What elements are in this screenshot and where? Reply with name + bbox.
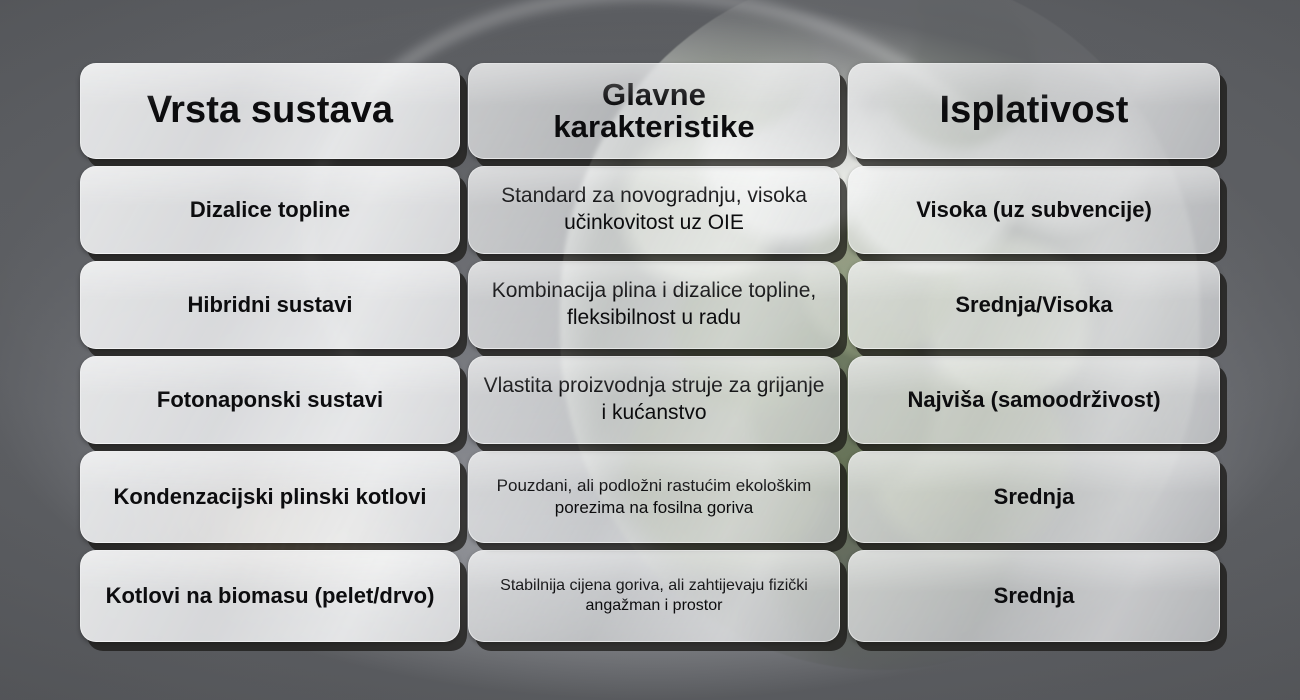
cell-system: Kondenzacijski plinski kotlovi bbox=[80, 451, 460, 543]
cell-system: Fotonaponski sustavi bbox=[80, 356, 460, 444]
table-row: Kotlovi na biomasu (pelet/drvo) Stabilni… bbox=[80, 550, 1220, 642]
table-header-row: Vrsta sustava Glavnekarakteristike Ispla… bbox=[80, 63, 1220, 159]
cell-text-characteristics: Vlastita proizvodnja struje za grijanje … bbox=[483, 373, 825, 427]
header-label-characteristics-line1: Glavne bbox=[602, 77, 706, 112]
cell-characteristics: Pouzdani, ali podložni rastućim ekološki… bbox=[468, 451, 840, 543]
slide-canvas: Vrsta sustava Glavnekarakteristike Ispla… bbox=[0, 0, 1300, 700]
cell-system: Kotlovi na biomasu (pelet/drvo) bbox=[80, 550, 460, 642]
cell-text-characteristics: Kombinacija plina i dizalice topline, fl… bbox=[483, 278, 825, 332]
cell-text-characteristics: Stabilnija cijena goriva, ali zahtijevaj… bbox=[483, 576, 825, 617]
header-label-system: Vrsta sustava bbox=[147, 91, 393, 131]
cell-system: Dizalice topline bbox=[80, 166, 460, 254]
cell-text-characteristics: Standard za novogradnju, visoka učinkovi… bbox=[483, 183, 825, 237]
header-label-profitability: Isplativost bbox=[939, 91, 1128, 131]
table-row: Hibridni sustavi Kombinacija plina i diz… bbox=[80, 261, 1220, 349]
comparison-table: Vrsta sustava Glavnekarakteristike Ispla… bbox=[80, 63, 1220, 642]
cell-profitability: Srednja/Visoka bbox=[848, 261, 1220, 349]
cell-text-system: Hibridni sustavi bbox=[187, 292, 352, 318]
cell-text-system: Fotonaponski sustavi bbox=[157, 387, 383, 413]
cell-characteristics: Stabilnija cijena goriva, ali zahtijevaj… bbox=[468, 550, 840, 642]
cell-profitability: Najviša (samoodrživost) bbox=[848, 356, 1220, 444]
header-label-characteristics: Glavnekarakteristike bbox=[553, 79, 754, 143]
cell-text-profitability: Srednja/Visoka bbox=[955, 292, 1112, 318]
header-label-characteristics-line2: karakteristike bbox=[553, 109, 754, 144]
cell-text-system: Dizalice topline bbox=[190, 197, 350, 223]
cell-profitability: Visoka (uz subvencije) bbox=[848, 166, 1220, 254]
header-cell-system: Vrsta sustava bbox=[80, 63, 460, 159]
cell-text-profitability: Srednja bbox=[994, 583, 1075, 609]
cell-text-system: Kondenzacijski plinski kotlovi bbox=[114, 484, 427, 510]
cell-characteristics: Vlastita proizvodnja struje za grijanje … bbox=[468, 356, 840, 444]
header-cell-profitability: Isplativost bbox=[848, 63, 1220, 159]
cell-system: Hibridni sustavi bbox=[80, 261, 460, 349]
cell-text-profitability: Najviša (samoodrživost) bbox=[907, 387, 1160, 413]
table-row: Kondenzacijski plinski kotlovi Pouzdani,… bbox=[80, 451, 1220, 543]
table-row: Fotonaponski sustavi Vlastita proizvodnj… bbox=[80, 356, 1220, 444]
table-row: Dizalice topline Standard za novogradnju… bbox=[80, 166, 1220, 254]
cell-characteristics: Kombinacija plina i dizalice topline, fl… bbox=[468, 261, 840, 349]
cell-text-characteristics: Pouzdani, ali podložni rastućim ekološki… bbox=[483, 475, 825, 519]
cell-profitability: Srednja bbox=[848, 550, 1220, 642]
cell-text-profitability: Visoka (uz subvencije) bbox=[916, 197, 1152, 223]
header-cell-characteristics: Glavnekarakteristike bbox=[468, 63, 840, 159]
cell-profitability: Srednja bbox=[848, 451, 1220, 543]
cell-text-profitability: Srednja bbox=[994, 484, 1075, 510]
cell-characteristics: Standard za novogradnju, visoka učinkovi… bbox=[468, 166, 840, 254]
cell-text-system: Kotlovi na biomasu (pelet/drvo) bbox=[106, 583, 435, 609]
